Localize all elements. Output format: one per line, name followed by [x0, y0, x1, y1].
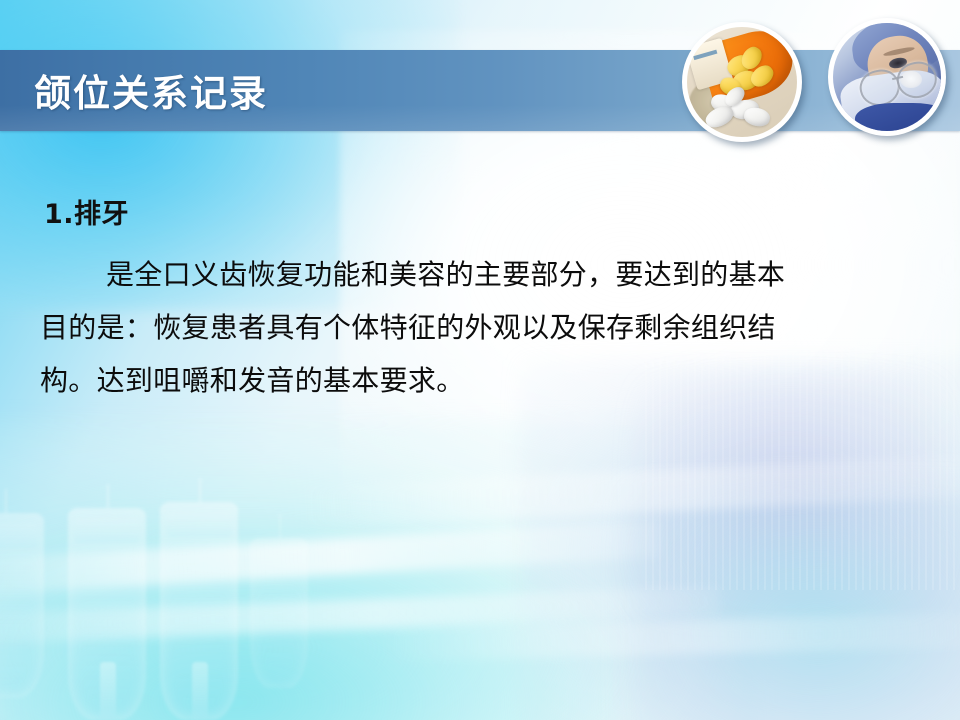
pill-bottle-photo [682, 22, 802, 142]
body-paragraph: 是全口义齿恢复功能和美容的主要部分，要达到的基本 目的是：恢复患者具有个体特征的… [40, 248, 924, 407]
title-banner: 颌位关系记录 [0, 50, 960, 131]
iv-bag-shape [0, 513, 44, 698]
body-line: 构。达到咀嚼和发音的基本要求。 [40, 354, 924, 407]
iv-bag-stem [100, 662, 116, 720]
page-title: 颌位关系记录 [34, 62, 268, 116]
pill-bottle-photo-inner [687, 27, 797, 137]
surgeon-shoulder-shape [855, 103, 941, 131]
header-background-wash [0, 0, 960, 52]
surgeon-photo [828, 18, 946, 136]
surgeon-photo-inner [833, 23, 941, 131]
iv-bag-stem [192, 662, 208, 720]
body-line: 目的是：恢复患者具有个体特征的外观以及保存剩余组织结 [40, 301, 924, 354]
body-line: 是全口义齿恢复功能和美容的主要部分，要达到的基本 [40, 248, 924, 301]
section-heading: 1.排牙 [44, 192, 129, 231]
slide: 颌位关系记录 [0, 0, 960, 720]
